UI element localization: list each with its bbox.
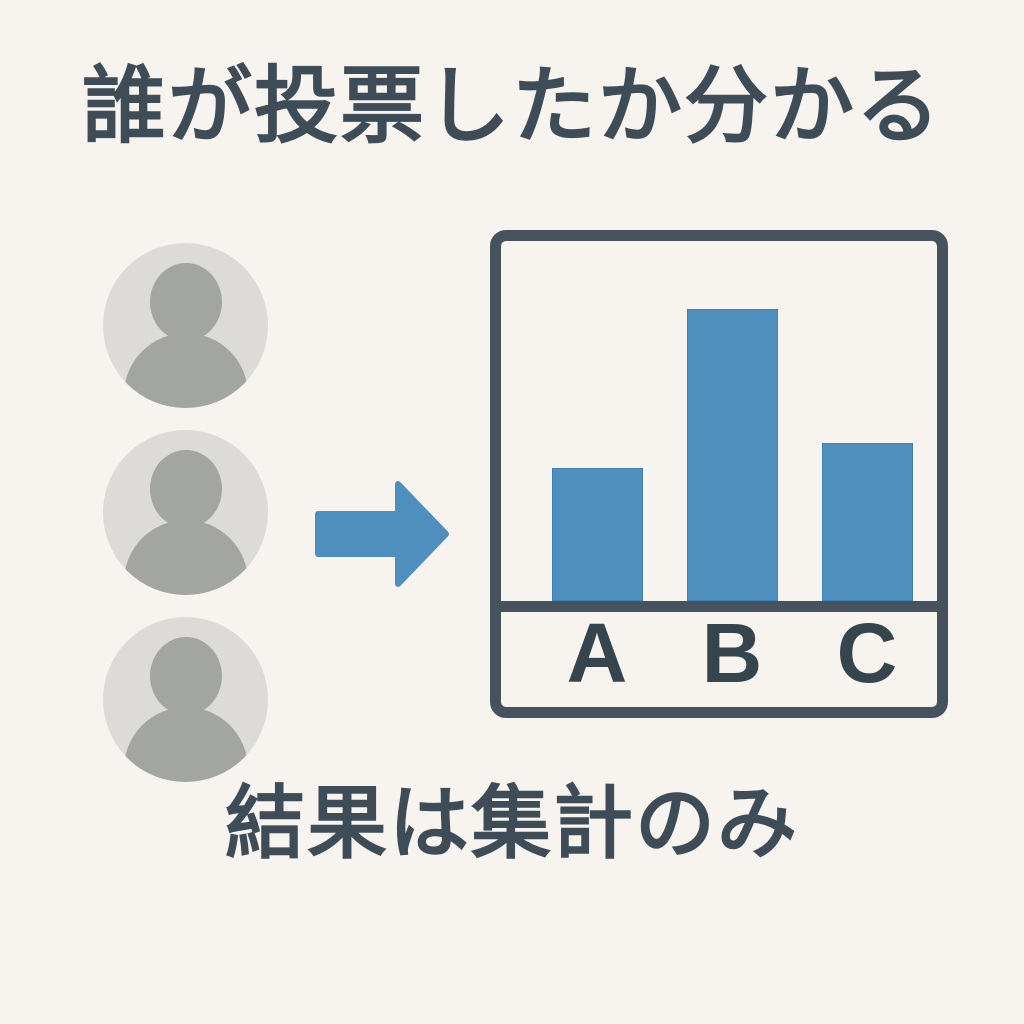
chart-category-labels: A B C xyxy=(501,612,937,707)
chart-bar-a xyxy=(552,468,643,601)
chart-label-c: C xyxy=(812,611,922,695)
poster-canvas: 誰が投票したか分かる A B C 結果は集計のみ xyxy=(0,0,1024,1024)
avatar-body-shape xyxy=(124,520,248,595)
chart-bar-c xyxy=(822,443,913,601)
avatar-body-shape xyxy=(124,333,248,408)
arrow-right-icon xyxy=(314,480,450,588)
chart-label-b: B xyxy=(677,611,787,695)
user-avatar-icon xyxy=(103,243,268,408)
page-subtitle: 結果は集計のみ xyxy=(0,782,1024,866)
avatar-head-shape xyxy=(150,637,222,715)
user-avatar-icon xyxy=(103,430,268,595)
avatar-head-shape xyxy=(150,263,222,341)
chart-label-a: A xyxy=(542,611,652,695)
chart-plot-area xyxy=(501,241,937,601)
page-title: 誰が投票したか分かる xyxy=(0,62,1024,150)
user-avatar-icon xyxy=(103,617,268,782)
avatar-body-shape xyxy=(124,707,248,782)
chart-bar-b xyxy=(687,309,778,601)
avatar-head-shape xyxy=(150,450,222,528)
results-bar-chart: A B C xyxy=(490,230,948,718)
